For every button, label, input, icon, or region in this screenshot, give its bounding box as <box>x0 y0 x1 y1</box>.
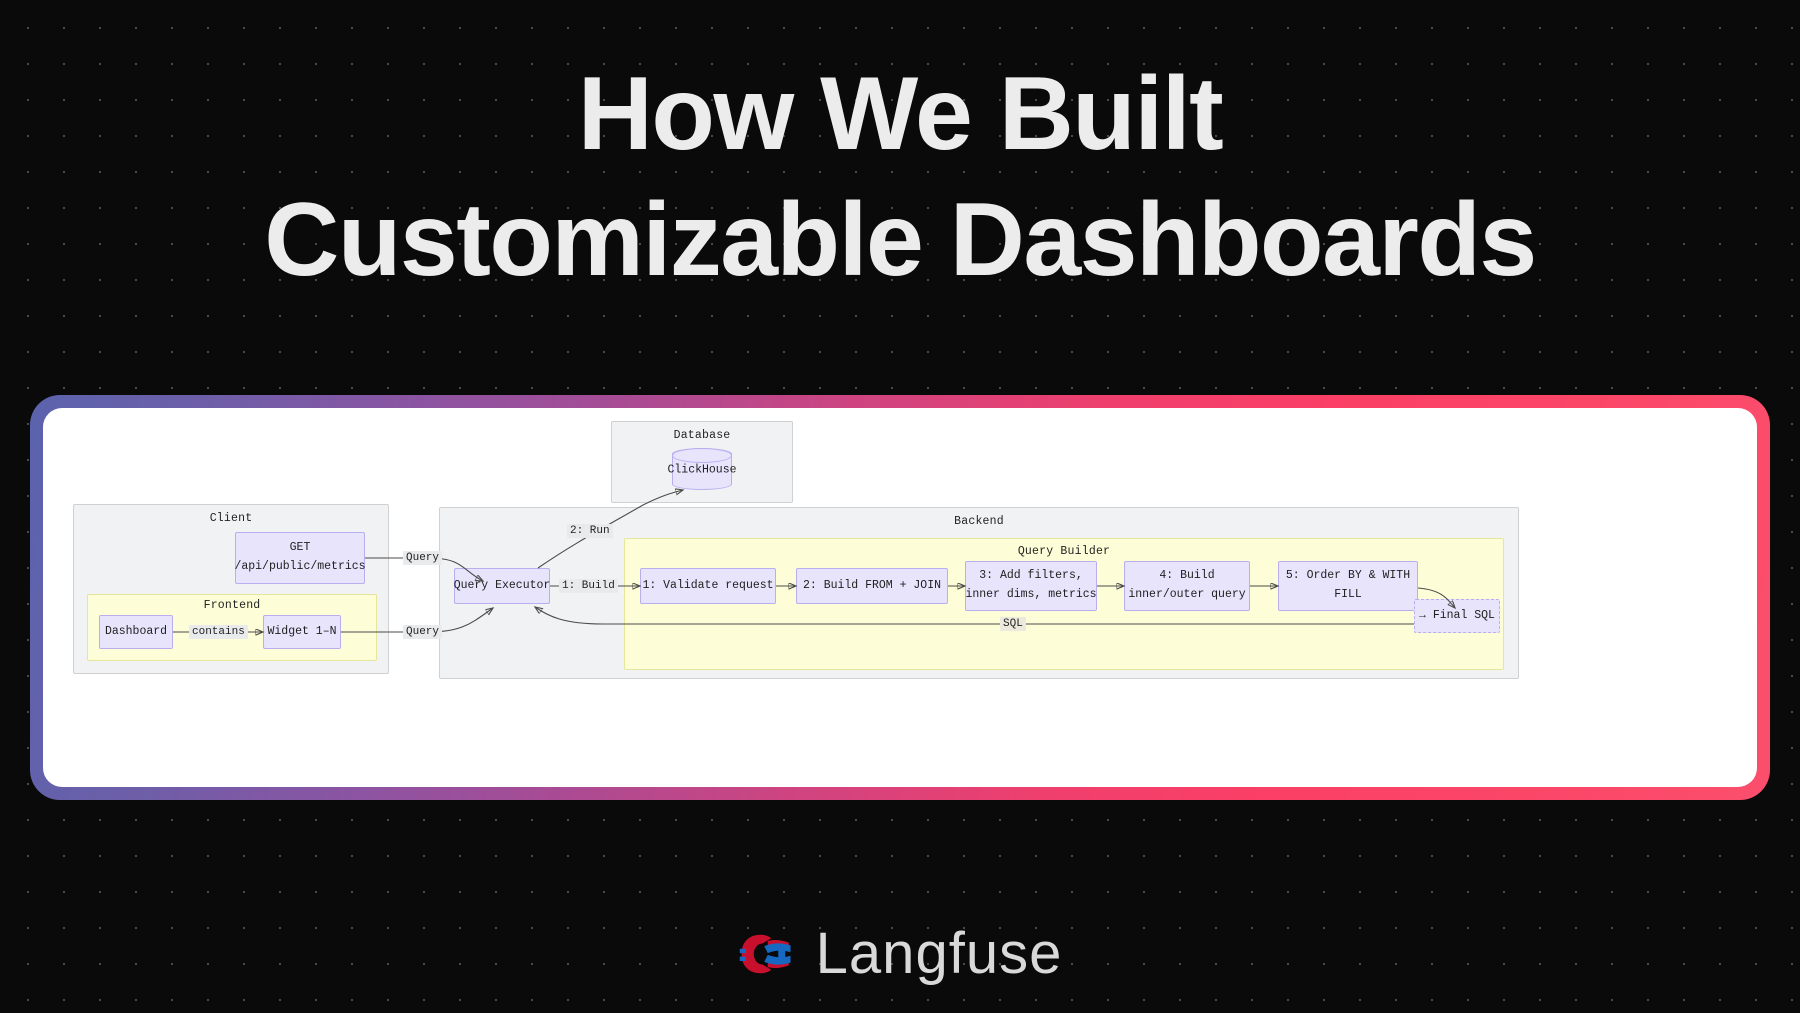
edge-step5-finalsql <box>1418 588 1455 608</box>
edge-label-query-top: Query <box>403 551 442 565</box>
edge-label-run: 2: Run <box>567 524 613 538</box>
poster-canvas: How We Built Customizable Dashboards Cli… <box>0 0 1800 1013</box>
diagram-card-inner: Client GET /api/public/metrics Frontend … <box>43 408 1757 787</box>
edge-label-sql: SQL <box>1000 617 1026 631</box>
langfuse-wordmark: Langfuse <box>816 925 1063 983</box>
edge-label-build: 1: Build <box>559 579 618 593</box>
edge-label-contains: contains <box>189 625 248 639</box>
diagram-card: Client GET /api/public/metrics Frontend … <box>30 395 1770 800</box>
edge-label-query-bottom: Query <box>403 625 442 639</box>
edge-finalsql-executor <box>535 607 1414 624</box>
langfuse-logo-icon <box>738 931 794 977</box>
brand-footer: Langfuse <box>0 925 1800 983</box>
page-title: How We Built Customizable Dashboards <box>0 62 1800 292</box>
architecture-diagram: Client GET /api/public/metrics Frontend … <box>43 408 1757 787</box>
diagram-edges <box>43 408 1757 787</box>
title-line-1: How We Built <box>0 62 1800 166</box>
node-clickhouse-label: ClickHouse <box>667 464 736 477</box>
title-line-2: Customizable Dashboards <box>0 188 1800 292</box>
